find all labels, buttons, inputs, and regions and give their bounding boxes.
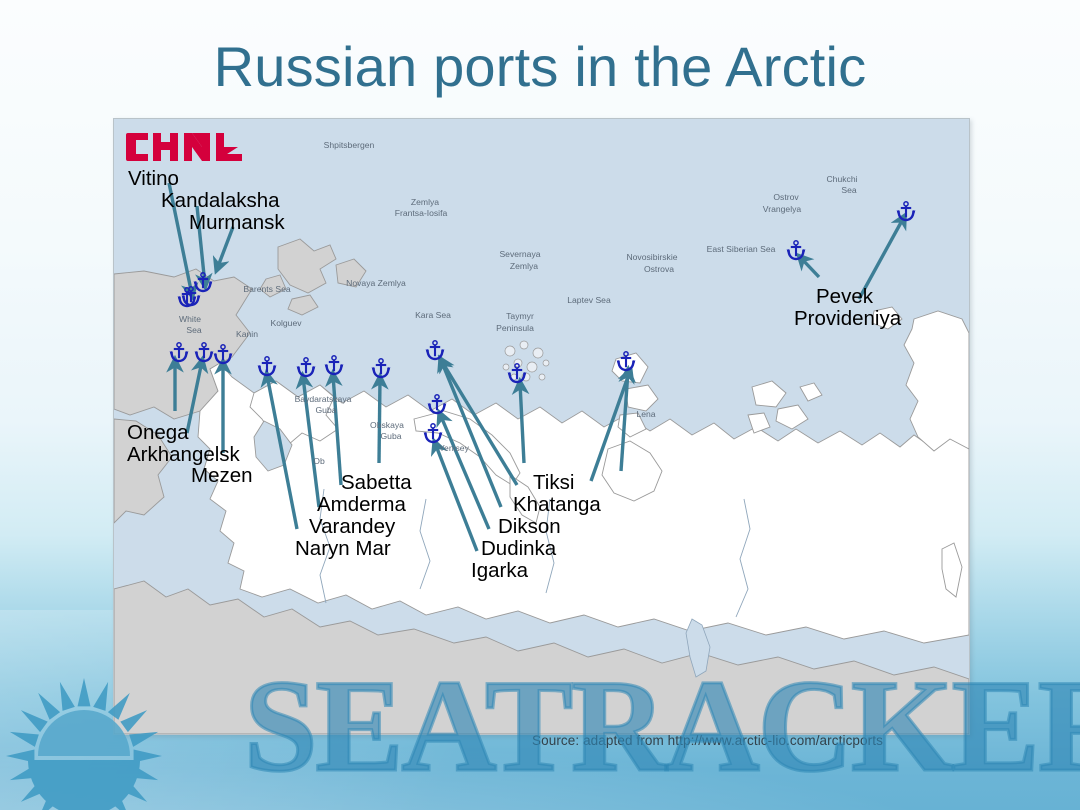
geo-label: Zemlya (510, 261, 538, 271)
port-label[interactable]: Dikson (498, 515, 561, 538)
sun-ray (78, 806, 91, 810)
geo-label: Sea (841, 185, 857, 195)
geo-label: Sea (186, 325, 202, 335)
sun-ray (6, 750, 34, 763)
geo-label: Baydaratskaya (295, 394, 352, 404)
port-label[interactable]: Amderma (317, 493, 406, 516)
sun-ray (120, 780, 147, 802)
sun-ray (93, 801, 108, 810)
geo-label: Ob (313, 456, 325, 466)
geo-label: Kara Sea (415, 310, 451, 320)
port-label[interactable]: Murmansk (189, 211, 285, 234)
port-label[interactable]: Varandey (309, 515, 395, 538)
sun-ray (21, 710, 48, 732)
geo-label: East Siberian Sea (707, 244, 776, 254)
geo-label: Novaya Zemlya (346, 278, 406, 288)
port-label[interactable]: Tiksi (533, 471, 574, 494)
geo-label: Peninsula (496, 323, 534, 333)
sun-ray (21, 780, 48, 802)
geo-label: White (179, 314, 201, 324)
port-label[interactable]: Mezen (191, 464, 253, 487)
port-label[interactable]: Naryn Mar (295, 537, 391, 560)
sun-ray (60, 682, 75, 711)
sun-ray (10, 765, 39, 780)
port-label[interactable]: Onega (127, 421, 189, 444)
page-title: Russian ports in the Arctic (0, 36, 1080, 98)
sun-ray (129, 765, 158, 780)
geo-label: Novosibirskie (626, 252, 677, 262)
sun-ray (60, 801, 75, 810)
geo-label: Guba (315, 405, 336, 415)
sun-ray (93, 682, 108, 711)
geo-label: Zemlya (411, 197, 439, 207)
geo-label: Yenisey (439, 443, 469, 453)
slide-canvas: Russian ports in the Arctic (0, 0, 1080, 810)
port-label[interactable]: Provideniya (794, 307, 901, 330)
sun-ray (78, 678, 91, 706)
port-label[interactable]: Khatanga (513, 493, 601, 516)
geo-label: Guba (380, 431, 401, 441)
sun-ray (108, 792, 130, 810)
sun-ray (10, 732, 39, 747)
geo-label: Kanin (236, 329, 258, 339)
port-label[interactable]: Vitino (128, 167, 179, 190)
port-label[interactable]: Igarka (471, 559, 528, 582)
port-label[interactable]: Pevek (816, 285, 873, 308)
geo-label: Frantsa-Iosifa (395, 208, 448, 218)
port-label[interactable]: Arkhangelsk (127, 443, 240, 466)
geo-label: Laptev Sea (567, 295, 611, 305)
arctic-map[interactable]: ShpitsbergenZemlyaFrantsa-IosifaSevernay… (113, 118, 970, 735)
sun-ray (38, 792, 60, 810)
geo-label: Ostrov (773, 192, 799, 202)
geo-label: Obskaya (370, 420, 404, 430)
source-note: Source: adapted from http://www.arctic-l… (532, 733, 883, 748)
chnl-logo (126, 127, 244, 167)
geo-label: Kolguev (270, 318, 302, 328)
geo-label: Chukchi (826, 174, 857, 184)
geo-label: Vrangelya (763, 204, 802, 214)
geo-label: Shpitsbergen (324, 140, 375, 150)
sun-ray (134, 750, 162, 763)
geo-label: Lena (636, 409, 655, 419)
geo-label: Barents Sea (243, 284, 291, 294)
sun-ray (38, 693, 60, 720)
geo-label: Taymyr (506, 311, 534, 321)
port-label[interactable]: Kandalaksha (161, 189, 280, 212)
geo-label: Severnaya (499, 249, 540, 259)
port-label[interactable]: Sabetta (341, 471, 412, 494)
port-label[interactable]: Dudinka (481, 537, 556, 560)
geo-label: Ostrova (644, 264, 674, 274)
